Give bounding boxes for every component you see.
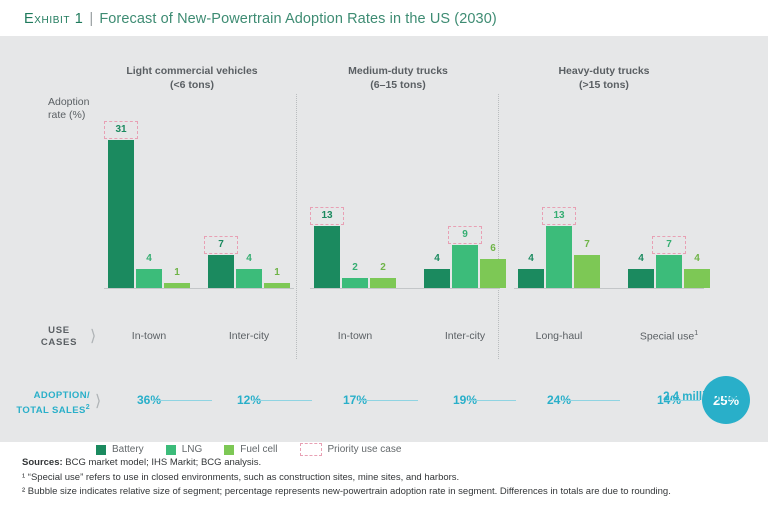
bar-value-label: 1 (258, 267, 296, 278)
bar-intercity-battery (424, 269, 450, 288)
bar-value-label: 4 (418, 253, 456, 264)
sources-label: Sources: (22, 457, 63, 468)
exhibit-title-bar: Exhibit 1 | Forecast of New-Powertrain A… (24, 10, 748, 32)
bar-value-label: 4 (678, 253, 716, 264)
bar-specialuse-battery (628, 269, 654, 288)
page-title: Forecast of New-Powertrain Adoption Rate… (99, 11, 497, 27)
bar-value-label: 4 (622, 253, 660, 264)
priority-use-case-marker (542, 207, 576, 225)
bar-longhaul-fuel-cell (574, 255, 600, 288)
adoption-row-label: ADOPTION/ TOTAL SALES2 (14, 390, 90, 417)
adoption-connector-line-0 (152, 400, 212, 401)
footnote-1: ¹ “Special use” refers to use in closed … (22, 471, 752, 485)
bar-intercity-fuel-cell (480, 259, 506, 288)
bar-value-label: 2 (364, 262, 402, 273)
priority-use-case-marker (204, 236, 238, 254)
use-cases-label-line1: USE (30, 325, 88, 337)
bar-intown-battery (314, 226, 340, 288)
baseline-1 (310, 288, 500, 289)
legend-item-lng: LNG (166, 444, 203, 455)
bar-intown-lng (342, 278, 368, 288)
legend-swatch-battery (96, 445, 106, 455)
sources-text: BCG market model; IHS Markit; BCG analys… (63, 457, 262, 468)
legend-label: Battery (112, 444, 144, 455)
bar-specialuse-fuel-cell (684, 269, 710, 288)
adoption-connector-line-1 (252, 400, 312, 401)
use-case-label: In-town (292, 330, 418, 342)
sources-line: Sources: BCG market model; IHS Markit; B… (22, 456, 752, 470)
priority-use-case-marker (104, 121, 138, 139)
adoption-label-line2: TOTAL SALES2 (14, 402, 90, 417)
bar-value-label: 7 (568, 239, 606, 250)
legend-swatch-fuel-cell (224, 445, 234, 455)
bar-value-label: 6 (474, 243, 512, 254)
baseline-0 (104, 288, 294, 289)
legend-swatch-lng (166, 445, 176, 455)
adoption-connector-line-2 (358, 400, 418, 401)
bar-intown-fuel-cell (370, 278, 396, 288)
priority-use-case-marker (310, 207, 344, 225)
legend-item-fuel-cell: Fuel cell (224, 444, 277, 455)
chart-canvas: Adoption rate (%) Light commercial vehic… (0, 36, 768, 442)
exhibit-number: Exhibit 1 (24, 11, 83, 27)
bar-intercity-fuel-cell (264, 283, 290, 288)
footnote-2: ² Bubble size indicates relative size of… (22, 485, 752, 499)
legend-label: Fuel cell (240, 444, 277, 455)
title-separator: | (89, 10, 93, 27)
priority-use-case-marker (448, 226, 482, 244)
use-case-label: Special use1 (606, 330, 732, 343)
footnotes: Sources: BCG market model; IHS Markit; B… (22, 456, 752, 499)
exhibit-root: Exhibit 1 | Forecast of New-Powertrain A… (0, 0, 768, 524)
priority-use-case-marker (652, 236, 686, 254)
bar-intown-battery (108, 140, 134, 288)
bar-value-label: 4 (130, 253, 168, 264)
adoption-connector-line-3 (468, 400, 516, 401)
use-case-label: Long-haul (496, 330, 622, 342)
legend-label: Priority use case (328, 444, 402, 455)
use-cases-label-line2: CASES (30, 337, 88, 349)
legend-swatch-priority-use-case (300, 443, 322, 456)
total-units-label: 2.4 million units (610, 391, 750, 403)
legend-label: LNG (182, 444, 203, 455)
bar-longhaul-lng (546, 226, 572, 288)
use-cases-row-label: USE CASES (30, 325, 88, 349)
bar-value-label: 4 (230, 253, 268, 264)
chart-legend: BatteryLNGFuel cellPriority use case (96, 443, 423, 456)
baseline-2 (514, 288, 704, 289)
adoption-label-line1: ADOPTION/ (14, 390, 90, 402)
bar-value-label: 1 (158, 267, 196, 278)
bar-value-label: 4 (512, 253, 550, 264)
legend-item-battery: Battery (96, 444, 144, 455)
legend-item-priority-use-case: Priority use case (300, 443, 402, 456)
bar-longhaul-battery (518, 269, 544, 288)
bar-intown-fuel-cell (164, 283, 190, 288)
